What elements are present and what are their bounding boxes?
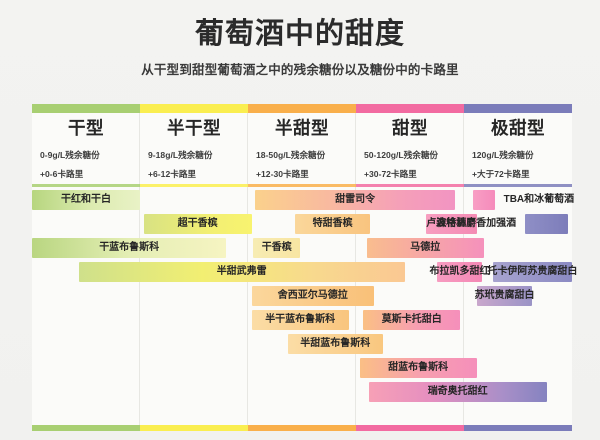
column-rule-segment <box>32 184 140 187</box>
column-color-swatch <box>464 104 572 113</box>
column-residual-sugar: 50-120g/L残余糖份 <box>364 141 456 161</box>
wine-bar[interactable]: 干香槟 <box>253 238 300 258</box>
wine-bar[interactable]: TBA和冰葡萄酒 <box>473 190 495 210</box>
footer-strip-segment <box>464 425 572 431</box>
page-title: 葡萄酒中的甜度 <box>0 0 600 51</box>
column-rule-segment <box>140 184 248 187</box>
column-color-swatch <box>248 104 356 113</box>
column-rule-segment <box>356 184 464 187</box>
wine-bar[interactable]: 甜雷司令 <box>255 190 455 210</box>
footer-strip-segment <box>356 425 464 431</box>
wine-bar[interactable]: 特甜香槟 <box>295 214 371 234</box>
wine-bar[interactable]: 半干蓝布鲁斯科 <box>252 310 349 330</box>
footer-strip-segment <box>140 425 248 431</box>
wine-bar-label: 瑞奇奥托甜红 <box>424 386 492 398</box>
wine-bar-label: 甜蓝布鲁斯科 <box>384 362 452 374</box>
column-title: 极甜型 <box>472 113 564 141</box>
wine-bar-label: 半干蓝布鲁斯科 <box>261 314 339 326</box>
column-color-swatch <box>140 104 248 113</box>
wine-bar[interactable]: 马德拉 <box>367 238 484 258</box>
column-rule-segment <box>464 184 572 187</box>
wine-bar[interactable]: 卢森格林麝香加强酒 <box>525 214 568 234</box>
wine-bar[interactable]: 干红和干白 <box>32 190 140 210</box>
column-header: 甜型50-120g/L残余糖份+30-72卡路里 <box>356 113 464 180</box>
wine-bar[interactable]: 半甜武弗雷 <box>79 262 405 282</box>
column-header: 半干型9-18g/L残余糖份+6-12卡路里 <box>140 113 248 180</box>
wine-bar-label: 干香槟 <box>258 242 296 254</box>
wine-bar-label: 莫斯卡托甜白 <box>378 314 446 326</box>
column-color-swatch <box>356 104 464 113</box>
header: 葡萄酒中的甜度 从干型到甜型葡萄酒之中的残余糖份以及糖份中的卡路里 <box>0 0 600 78</box>
wine-bar[interactable]: 布拉凯多甜红 <box>437 262 482 282</box>
column-header: 半甜型18-50g/L残余糖份+12-30卡路里 <box>248 113 356 180</box>
column-title: 半甜型 <box>256 113 348 141</box>
column-header: 极甜型120g/L残余糖份+大于72卡路里 <box>464 113 572 180</box>
sweetness-chart: 干型0-9g/L残余糖份+0-6卡路里半干型9-18g/L残余糖份+6-12卡路… <box>32 104 572 426</box>
wine-bar-label: 半甜蓝布鲁斯科 <box>296 338 374 350</box>
wine-bar-label: 马德拉 <box>406 242 444 254</box>
column-residual-sugar: 9-18g/L残余糖份 <box>148 141 240 161</box>
column-title: 干型 <box>40 113 132 141</box>
column-residual-sugar: 18-50g/L残余糖份 <box>256 141 348 161</box>
wine-bar[interactable]: 干蓝布鲁斯科 <box>32 238 226 258</box>
header-rule <box>32 184 572 187</box>
column-calories: +12-30卡路里 <box>256 161 348 180</box>
wine-bar-label: 苏玳贵腐甜白 <box>471 290 539 302</box>
wine-bar-label: 舍西亚尔马德拉 <box>274 290 352 302</box>
column-residual-sugar: 120g/L残余糖份 <box>472 141 564 161</box>
wine-bar[interactable]: 托卡伊阿苏贵腐甜白 <box>493 262 572 282</box>
wine-bar[interactable]: 苏玳贵腐甜白 <box>477 286 533 306</box>
wine-bar[interactable]: 瑞奇奥托甜红 <box>369 382 547 402</box>
infographic-page: 葡萄酒中的甜度 从干型到甜型葡萄酒之中的残余糖份以及糖份中的卡路里 干型0-9g… <box>0 0 600 440</box>
wine-bar-label: 干蓝布鲁斯科 <box>95 242 163 254</box>
column-color-swatch <box>32 104 140 113</box>
wine-bar-label: 干红和干白 <box>57 194 115 206</box>
footer-strip-segment <box>32 425 140 431</box>
footer-strip-segment <box>248 425 356 431</box>
page-subtitle: 从干型到甜型葡萄酒之中的残余糖份以及糖份中的卡路里 <box>0 51 600 78</box>
column-title: 甜型 <box>364 113 456 141</box>
wine-bar[interactable]: 舍西亚尔马德拉 <box>252 286 374 306</box>
column-calories: +6-12卡路里 <box>148 161 240 180</box>
column-calories: +30-72卡路里 <box>364 161 456 180</box>
footer-color-strip <box>32 425 572 431</box>
wine-bar-label: TBA和冰葡萄酒 <box>500 194 579 206</box>
wine-bar[interactable]: 半甜蓝布鲁斯科 <box>288 334 383 354</box>
wine-bar[interactable]: 超干香槟 <box>144 214 252 234</box>
wine-bar-label: 半甜武弗雷 <box>213 266 271 278</box>
column-calories: +0-6卡路里 <box>40 161 132 180</box>
column-header: 干型0-9g/L残余糖份+0-6卡路里 <box>32 113 140 180</box>
bars-container: 干红和干白甜雷司令TBA和冰葡萄酒超干香槟特甜香槟波特酒卢森格林麝香加强酒干蓝布… <box>32 188 572 414</box>
column-residual-sugar: 0-9g/L残余糖份 <box>40 141 132 161</box>
wine-bar[interactable]: 莫斯卡托甜白 <box>363 310 460 330</box>
wine-bar[interactable]: 甜蓝布鲁斯科 <box>360 358 477 378</box>
wine-bar-label: 超干香槟 <box>174 218 222 230</box>
column-calories: +大于72卡路里 <box>472 161 564 180</box>
wine-bar-label: 特甜香槟 <box>309 218 357 230</box>
wine-bar-label: 甜雷司令 <box>331 194 379 206</box>
column-rule-segment <box>248 184 356 187</box>
column-title: 半干型 <box>148 113 240 141</box>
wine-bar-label: 托卡伊阿苏贵腐甜白 <box>483 266 581 278</box>
wine-bar-label: 卢森格林麝香加强酒 <box>422 218 520 230</box>
